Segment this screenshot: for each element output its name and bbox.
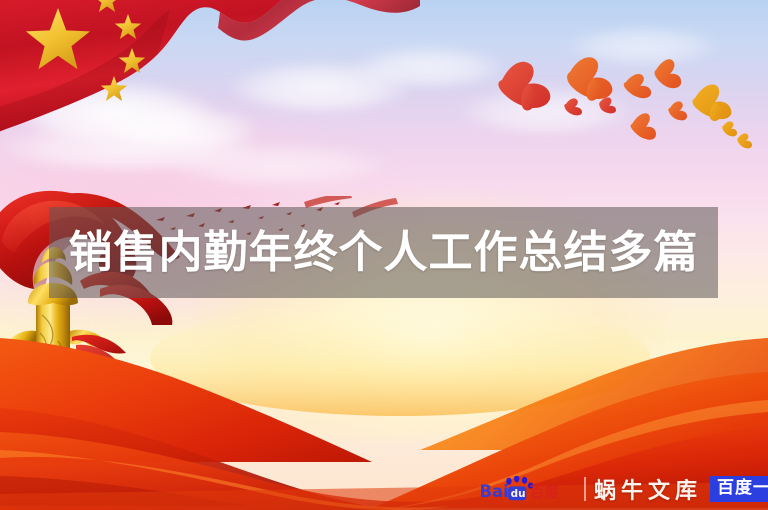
svg-text:du: du xyxy=(511,488,526,500)
title-banner: 销售内勤年终个人工作总结多篇 xyxy=(49,207,718,298)
baidu-search-button[interactable]: 百度一下 xyxy=(710,476,768,502)
chinese-flag-icon xyxy=(0,0,420,192)
baidu-logo-icon[interactable]: Bai du 百度 xyxy=(478,476,578,502)
bird-small-5 xyxy=(722,121,737,136)
bird-small-3 xyxy=(631,113,657,139)
birds-flock-icon xyxy=(480,50,768,170)
svg-text:百度: 百度 xyxy=(530,483,560,501)
bird-large-left xyxy=(498,62,550,111)
bird-small-1 xyxy=(564,98,582,115)
brand-name: 蜗牛文库 xyxy=(594,473,704,505)
svg-text:Bai: Bai xyxy=(479,482,508,501)
bird-yellow xyxy=(692,85,731,122)
page-title: 销售内勤年终个人工作总结多篇 xyxy=(69,231,699,275)
bird-medium-1 xyxy=(624,74,651,98)
watermark-divider xyxy=(584,477,586,501)
bird-small-4 xyxy=(668,101,687,120)
bird-large-mid xyxy=(567,57,612,100)
poster-image: 销售内勤年终个人工作总结多篇 Bai du 百度 xyxy=(0,0,768,510)
bird-small-6 xyxy=(737,133,752,148)
watermark-bar: Bai du 百度 蜗牛文库 百度一下 xyxy=(478,474,768,504)
bird-small-2 xyxy=(599,97,616,113)
bird-medium-2 xyxy=(655,59,682,88)
